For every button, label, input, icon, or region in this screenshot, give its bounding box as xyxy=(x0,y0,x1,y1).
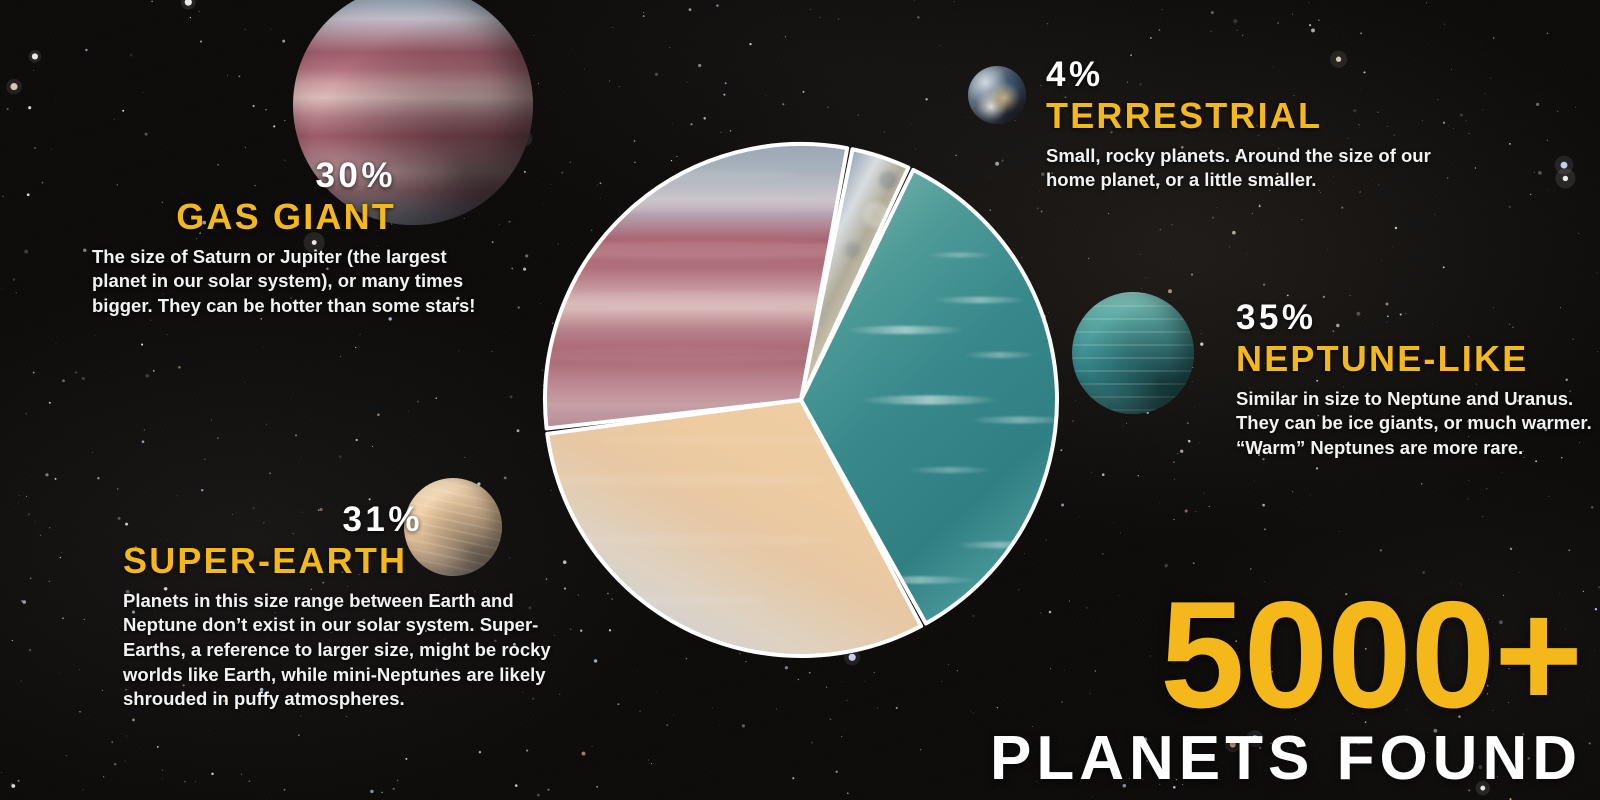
terrestrial-planet-thumbnail xyxy=(968,66,1026,124)
legend-neptune-like: 35% NEPTUNE-LIKE Similar in size to Nept… xyxy=(1236,300,1600,461)
terrestrial-title: TERRESTRIAL xyxy=(1046,97,1466,135)
planet-count-subtitle: PLANETS FOUND xyxy=(990,728,1582,790)
gas-giant-percent: 30% xyxy=(92,158,492,193)
terrestrial-percent: 4% xyxy=(1046,57,1466,92)
planets-found-headline: 5000+ PLANETS FOUND xyxy=(990,585,1582,790)
neptune-like-title: NEPTUNE-LIKE xyxy=(1236,340,1600,378)
infographic-canvas: 30% GAS GIANT The size of Saturn or Jupi… xyxy=(0,0,1600,800)
super-earth-title: SUPER-EARTH xyxy=(123,542,553,580)
gas-giant-title: GAS GIANT xyxy=(92,198,492,236)
legend-super-earth: 31% SUPER-EARTH Planets in this size ran… xyxy=(123,502,553,712)
neptune-like-planet-thumbnail xyxy=(1072,292,1194,414)
neptune-like-description: Similar in size to Neptune and Uranus. T… xyxy=(1236,387,1600,461)
planet-count: 5000+ xyxy=(990,585,1582,726)
super-earth-percent: 31% xyxy=(123,502,553,537)
terrestrial-description: Small, rocky planets. Around the size of… xyxy=(1046,144,1466,193)
legend-terrestrial: 4% TERRESTRIAL Small, rocky planets. Aro… xyxy=(1046,57,1466,193)
neptune-like-percent: 35% xyxy=(1236,300,1600,335)
legend-gas-giant: 30% GAS GIANT The size of Saturn or Jupi… xyxy=(92,158,492,319)
gas-giant-description: The size of Saturn or Jupiter (the large… xyxy=(92,245,492,319)
super-earth-description: Planets in this size range between Earth… xyxy=(123,589,553,712)
